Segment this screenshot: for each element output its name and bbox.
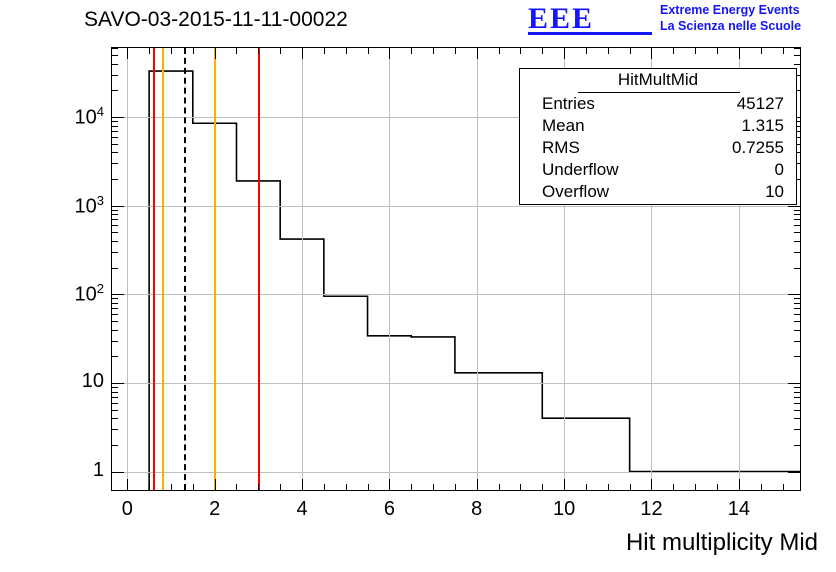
y-tick-minor [112, 403, 118, 404]
y-tick-minor-right [794, 64, 800, 65]
y-tick-minor-right [794, 225, 800, 226]
y-tick-minor [112, 308, 118, 309]
x-tick-top [455, 48, 456, 54]
y-tick-minor [112, 64, 118, 65]
gridline-vertical [477, 48, 478, 490]
y-tick-minor [112, 321, 118, 322]
x-tick-top [586, 48, 587, 54]
y-tick-minor [112, 225, 118, 226]
y-tick-minor [112, 131, 118, 132]
stats-title-underline [578, 92, 740, 93]
y-tick-minor [112, 387, 118, 388]
logo-mark: EEE [528, 2, 594, 36]
y-tick-minor [112, 429, 118, 430]
x-tick [608, 484, 609, 490]
y-tick-minor-right [794, 48, 800, 49]
y-tick-minor-right [794, 429, 800, 430]
x-tick-top [302, 48, 303, 59]
stats-key: Mean [542, 116, 585, 136]
y-tick-minor [112, 268, 118, 269]
y-tick-minor-right [794, 268, 800, 269]
x-tick [695, 484, 696, 490]
y-tick-label: 102 [16, 281, 104, 307]
y-tick-minor-right [794, 445, 800, 446]
x-tick [673, 484, 674, 490]
y-tick-minor-right [794, 410, 800, 411]
x-tick-label: 2 [195, 498, 235, 521]
y-tick-minor-right [794, 55, 800, 56]
y-tick-minor [112, 298, 118, 299]
x-tick-top [630, 48, 631, 54]
y-tick-minor [112, 55, 118, 56]
x-tick-label: 14 [719, 498, 759, 521]
x-tick [389, 479, 390, 490]
y-tick-minor-right [794, 392, 800, 393]
x-tick-label: 0 [107, 498, 147, 521]
y-tick-minor [112, 75, 118, 76]
logo-underline [528, 32, 652, 35]
x-tick-top [608, 48, 609, 54]
x-tick-top [193, 48, 194, 54]
x-tick-top [368, 48, 369, 54]
x-tick-top [324, 48, 325, 54]
stats-key: Overflow [542, 182, 609, 202]
y-tick-minor [112, 341, 118, 342]
y-tick-minor-right [794, 303, 800, 304]
x-tick [433, 484, 434, 490]
y-tick-minor-right [794, 387, 800, 388]
y-tick [112, 383, 124, 384]
y-tick-minor-right [794, 210, 800, 211]
y-tick-minor-right [794, 232, 800, 233]
y-tick-minor [112, 214, 118, 215]
y-tick-minor [112, 121, 118, 122]
y-tick-label: 1 [16, 459, 104, 482]
y-tick [112, 117, 124, 118]
x-tick-top [499, 48, 500, 54]
x-tick-top [542, 48, 543, 54]
y-tick-minor-right [794, 321, 800, 322]
y-tick-label: 103 [16, 193, 104, 219]
x-tick [564, 479, 565, 490]
gridline-vertical [389, 48, 390, 490]
y-tick-minor-right [794, 341, 800, 342]
marker-line-red-low [153, 48, 155, 490]
stats-key: Entries [542, 94, 595, 114]
y-tick-minor [112, 356, 118, 357]
y-tick-minor [112, 163, 118, 164]
gridline-vertical [302, 48, 303, 490]
y-tick-minor [112, 179, 118, 180]
x-tick-top [346, 48, 347, 54]
x-tick [455, 484, 456, 490]
y-tick-right [788, 294, 800, 295]
y-tick-minor [112, 90, 118, 91]
y-tick-minor-right [794, 418, 800, 419]
x-tick-top [783, 48, 784, 54]
x-tick-top [280, 48, 281, 54]
x-tick-top [171, 48, 172, 54]
stats-row: Entries45127 [520, 94, 796, 115]
stats-value: 10 [765, 182, 784, 202]
y-tick-minor [112, 392, 118, 393]
x-tick [302, 479, 303, 490]
y-tick-right [788, 206, 800, 207]
y-tick-minor [112, 418, 118, 419]
y-tick-minor-right [794, 214, 800, 215]
x-tick [411, 484, 412, 490]
x-tick [149, 484, 150, 490]
x-tick-label: 12 [631, 498, 671, 521]
gridline-vertical [127, 48, 128, 490]
x-tick-top [433, 48, 434, 54]
x-tick [520, 484, 521, 490]
x-tick [324, 484, 325, 490]
y-tick-minor [112, 314, 118, 315]
x-axis-title: Hit multiplicity Mid [626, 529, 818, 557]
y-tick-minor-right [794, 330, 800, 331]
x-tick-top [149, 48, 150, 54]
stats-key: Underflow [542, 160, 619, 180]
y-tick-minor-right [794, 403, 800, 404]
y-tick-minor-right [794, 252, 800, 253]
y-tick-minor [112, 48, 118, 49]
x-tick [280, 484, 281, 490]
stats-value: 1.315 [741, 116, 784, 136]
chart-root: SAVO-03-2015-11-11-00022 EEE Extreme Ene… [0, 0, 836, 572]
x-tick [651, 479, 652, 490]
stats-key: RMS [542, 138, 580, 158]
y-tick-minor-right [794, 314, 800, 315]
marker-line-orange-high [214, 48, 216, 490]
x-tick-top [673, 48, 674, 54]
y-tick-minor [112, 241, 118, 242]
x-tick-top [215, 48, 216, 59]
x-tick [717, 484, 718, 490]
stats-row: Underflow0 [520, 160, 796, 181]
x-tick-top [389, 48, 390, 59]
x-tick [193, 484, 194, 490]
x-tick-label: 10 [544, 498, 584, 521]
x-tick-top [739, 48, 740, 59]
y-tick-minor-right [794, 356, 800, 357]
x-tick-top [520, 48, 521, 54]
y-tick-minor [112, 303, 118, 304]
stats-row: Overflow10 [520, 182, 796, 203]
stats-box: HitMultMid Entries45127Mean1.315RMS0.725… [519, 68, 797, 205]
y-tick-label: 10 [16, 370, 104, 393]
y-tick-right [788, 472, 800, 473]
x-tick [586, 484, 587, 490]
y-tick-minor-right [794, 397, 800, 398]
stats-title: HitMultMid [520, 70, 796, 90]
x-tick [783, 484, 784, 490]
stats-value: 0.7255 [732, 138, 784, 158]
logo-line-2: La Scienza nelle Scuole [660, 19, 801, 33]
y-tick-minor [112, 232, 118, 233]
x-tick [215, 479, 216, 490]
page-title: SAVO-03-2015-11-11-00022 [84, 8, 348, 32]
y-tick-minor [112, 152, 118, 153]
x-tick-top [477, 48, 478, 59]
stats-value: 45127 [737, 94, 784, 114]
x-tick [499, 484, 500, 490]
x-tick-top [127, 48, 128, 59]
y-tick-minor [112, 252, 118, 253]
y-tick [112, 294, 124, 295]
x-tick-top [717, 48, 718, 54]
x-tick-top [651, 48, 652, 59]
x-tick-label: 4 [282, 498, 322, 521]
y-tick-minor [112, 137, 118, 138]
y-tick-minor [112, 219, 118, 220]
x-tick-top [761, 48, 762, 54]
marker-line-mean-dashed [184, 48, 186, 490]
x-tick-top [236, 48, 237, 54]
x-tick [630, 484, 631, 490]
x-tick-top [695, 48, 696, 54]
stats-row: Mean1.315 [520, 116, 796, 137]
x-tick [739, 479, 740, 490]
y-tick-label: 104 [16, 104, 104, 130]
marker-line-red-high [258, 48, 260, 490]
x-tick-label: 6 [369, 498, 409, 521]
x-tick-top [564, 48, 565, 59]
stats-value: 0 [775, 160, 784, 180]
eee-logo: EEE Extreme Energy Events La Scienza nel… [528, 2, 828, 36]
x-tick [346, 484, 347, 490]
y-tick-minor [112, 330, 118, 331]
y-tick-right [788, 383, 800, 384]
y-tick [112, 206, 124, 207]
y-tick-minor-right [794, 241, 800, 242]
x-tick [542, 484, 543, 490]
marker-line-orange-low [162, 48, 164, 490]
y-tick-minor-right [794, 308, 800, 309]
y-tick-minor [112, 410, 118, 411]
y-tick-minor [112, 210, 118, 211]
x-tick [258, 484, 259, 490]
x-tick [761, 484, 762, 490]
logo-line-1: Extreme Energy Events [660, 3, 800, 17]
x-tick [236, 484, 237, 490]
y-tick-minor [112, 445, 118, 446]
x-tick [127, 479, 128, 490]
x-tick [171, 484, 172, 490]
x-tick-top [411, 48, 412, 54]
y-tick-minor [112, 397, 118, 398]
x-tick-top [258, 48, 259, 54]
stats-row: RMS0.7255 [520, 138, 796, 159]
y-tick-minor-right [794, 219, 800, 220]
x-tick-label: 8 [457, 498, 497, 521]
y-tick-minor [112, 144, 118, 145]
y-tick-minor [112, 126, 118, 127]
y-tick-minor-right [794, 298, 800, 299]
y-tick [112, 472, 124, 473]
x-tick [477, 479, 478, 490]
x-tick [368, 484, 369, 490]
